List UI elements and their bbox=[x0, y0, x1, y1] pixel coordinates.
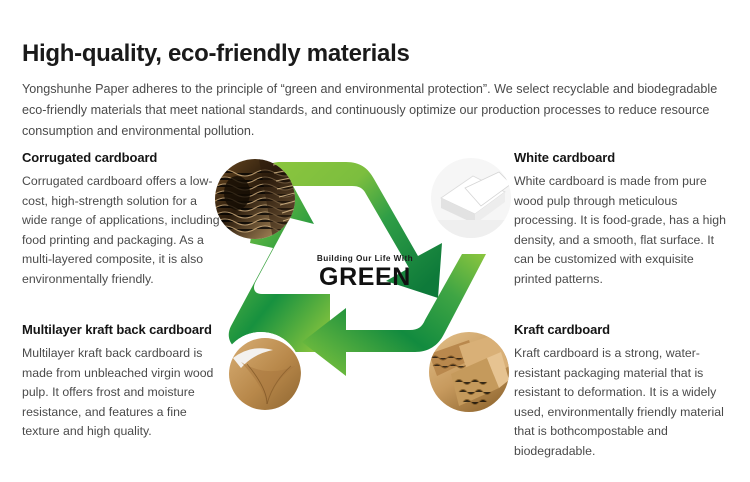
feature-body: White cardboard is made from pure wood p… bbox=[514, 172, 728, 289]
feature-white-cardboard: White cardboard White cardboard is made … bbox=[514, 150, 728, 289]
feature-heading: Corrugated cardboard bbox=[22, 150, 222, 166]
eco-materials-page: High-quality, eco-friendly materials Yon… bbox=[0, 0, 750, 482]
feature-multilayer-kraft-back-cardboard: Multilayer kraft back cardboard Multilay… bbox=[22, 322, 226, 442]
feature-body: Kraft cardboard is a strong, water-resis… bbox=[514, 344, 728, 461]
corrugated-cardboard-photo bbox=[215, 159, 295, 239]
feature-kraft-cardboard: Kraft cardboard Kraft cardboard is a str… bbox=[514, 322, 728, 461]
multilayer-kraft-back-cardboard-photo bbox=[221, 332, 301, 412]
feature-heading: Kraft cardboard bbox=[514, 322, 728, 338]
feature-body: Multilayer kraft back cardboard is made … bbox=[22, 344, 226, 442]
intro-paragraph: Yongshunhe Paper adheres to the principl… bbox=[22, 79, 728, 142]
page-title: High-quality, eco-friendly materials bbox=[22, 39, 410, 69]
feature-heading: Multilayer kraft back cardboard bbox=[22, 322, 226, 338]
white-cardboard-photo bbox=[431, 158, 511, 238]
kraft-cardboard-photo bbox=[429, 332, 509, 412]
feature-body: Corrugated cardboard offers a low-cost, … bbox=[22, 172, 222, 289]
feature-corrugated-cardboard: Corrugated cardboard Corrugated cardboar… bbox=[22, 150, 222, 289]
feature-heading: White cardboard bbox=[514, 150, 728, 166]
